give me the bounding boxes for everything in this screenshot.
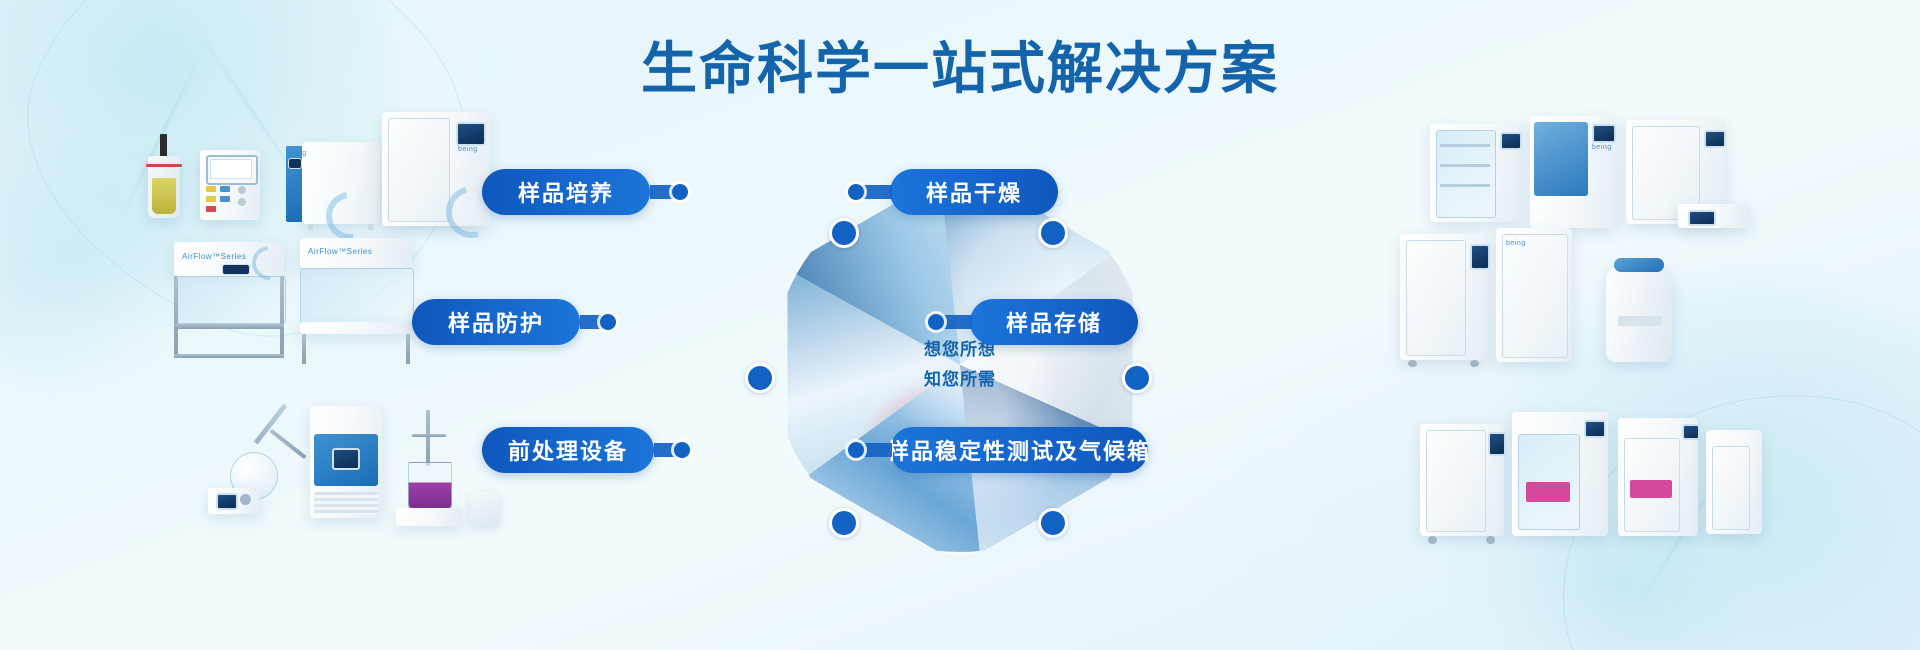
label-sample-storage-text: 样品存储 bbox=[1006, 306, 1102, 338]
page-title: 生命科学一站式解决方案 bbox=[0, 40, 1920, 99]
equipment-group-mid-right: being bbox=[1400, 228, 1740, 368]
connector-dot-storage bbox=[1122, 363, 1152, 393]
connector-node-storage bbox=[928, 314, 944, 330]
banner-root: 生命科学一站式解决方案 being be bbox=[0, 0, 1920, 650]
label-sample-culture[interactable]: 样品培养 bbox=[482, 169, 650, 215]
label-stability-testing[interactable]: 样品稳定性测试及气候箱 bbox=[890, 427, 1148, 473]
connector-node-protection bbox=[600, 314, 616, 330]
brand-logo-text: being bbox=[287, 150, 307, 157]
connector-node-stability bbox=[848, 442, 864, 458]
connector-dot-drying bbox=[1038, 218, 1068, 248]
equipment-group-bottom-left bbox=[190, 400, 510, 530]
connector-node-pretreatment bbox=[674, 442, 690, 458]
connector-dot-pretreat bbox=[829, 508, 859, 538]
label-sample-protection[interactable]: 样品防护 bbox=[412, 299, 580, 345]
connector-node-culture bbox=[672, 184, 688, 200]
equipment-group-bottom-right bbox=[1420, 408, 1770, 548]
label-pretreatment[interactable]: 前处理设备 bbox=[482, 427, 654, 473]
label-sample-drying[interactable]: 样品干燥 bbox=[890, 169, 1058, 215]
connector-dot-culture bbox=[829, 218, 859, 248]
equipment-incubator-tall: being bbox=[382, 112, 494, 230]
label-sample-protection-text: 样品防护 bbox=[448, 306, 544, 338]
solution-pinwheel: 想您所想 知您所需 bbox=[770, 175, 1150, 555]
equipment-group-top-right: being bbox=[1430, 106, 1760, 236]
connector-node-drying bbox=[848, 184, 864, 200]
label-sample-culture-text: 样品培养 bbox=[518, 176, 614, 208]
connector-dot-protection bbox=[745, 363, 775, 393]
label-pretreatment-text: 前处理设备 bbox=[508, 434, 628, 466]
brand-logo-text-2: being bbox=[458, 146, 478, 153]
label-sample-drying-text: 样品干燥 bbox=[926, 176, 1022, 208]
equipment-group-mid-left: AirFlow™Series AirFlow™Series bbox=[160, 228, 420, 368]
connector-dot-stability bbox=[1038, 508, 1068, 538]
label-stability-testing-text: 样品稳定性测试及气候箱 bbox=[887, 434, 1151, 466]
label-sample-storage[interactable]: 样品存储 bbox=[970, 299, 1138, 345]
